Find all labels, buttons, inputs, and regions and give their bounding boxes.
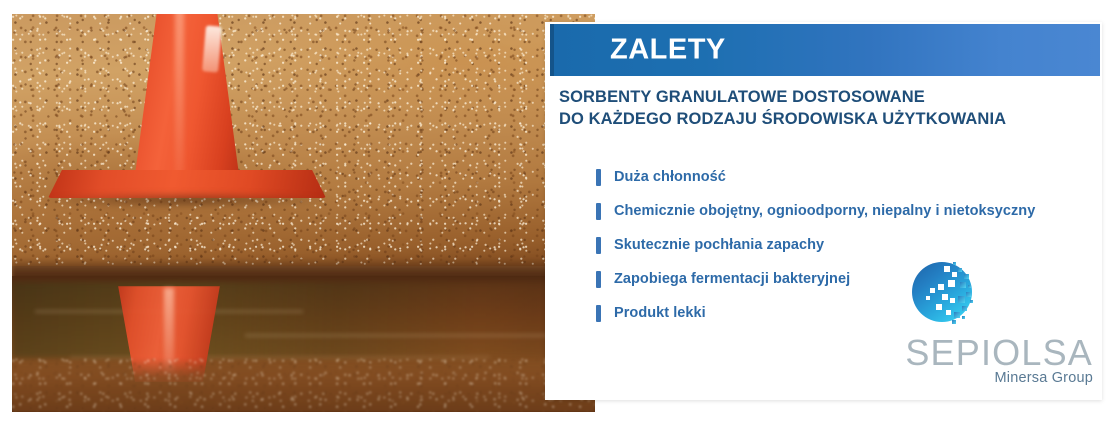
puddle-green-sheen xyxy=(12,282,595,358)
subtitle-line-2: DO KAŻDEGO RODZAJU ŚRODOWISKA UŻYTKOWANI… xyxy=(559,108,1089,130)
list-item: Skutecznie pochłania zapachy xyxy=(596,228,1096,262)
company-logo: SEPIOLSA Minersa Group xyxy=(893,258,1093,383)
list-item-label: Chemicznie obojętny, ognioodporny, niepa… xyxy=(614,203,1035,219)
logo-wordmark: SEPIOLSA xyxy=(893,334,1093,372)
cone-highlight xyxy=(175,14,184,176)
gravel-speckle-texture xyxy=(12,14,595,266)
subtitle-line-1: SORBENTY GRANULATOWE DOSTOSOWANE xyxy=(559,86,1089,108)
traffic-cone-photo xyxy=(12,14,595,412)
puddle-streak xyxy=(245,334,560,337)
list-item: Chemicznie obojętny, ognioodporny, niepa… xyxy=(596,194,1096,228)
bullet-marker-icon xyxy=(596,305,601,322)
logo-tagline: Minersa Group xyxy=(893,370,1093,386)
list-item: Duża chłonność xyxy=(596,160,1096,194)
list-item-label: Produkt lekki xyxy=(614,305,706,321)
bullet-marker-icon xyxy=(596,203,601,220)
list-item-label: Skutecznie pochłania zapachy xyxy=(614,237,824,253)
cone-base-shadow xyxy=(42,192,332,208)
foreground-gravel xyxy=(12,358,595,412)
slide-canvas: ZALETY SORBENTY GRANULATOWE DOSTOSOWANE … xyxy=(0,0,1111,430)
list-item-label: Zapobiega fermentacji bakteryjnej xyxy=(614,271,850,287)
gravel-surface xyxy=(12,14,595,266)
sepiolsa-pixel-sphere-icon xyxy=(906,258,980,332)
title-bar-left-accent xyxy=(550,24,554,76)
foreground-speckle-texture xyxy=(12,358,595,412)
subtitle: SORBENTY GRANULATOWE DOSTOSOWANE DO KAŻD… xyxy=(559,86,1089,130)
bullet-marker-icon xyxy=(596,271,601,288)
bullet-marker-icon xyxy=(596,237,601,254)
list-item-label: Duża chłonność xyxy=(614,169,726,185)
section-title-bar: ZALETY xyxy=(550,24,1100,76)
bullet-marker-icon xyxy=(596,169,601,186)
page-title: ZALETY xyxy=(610,34,726,67)
